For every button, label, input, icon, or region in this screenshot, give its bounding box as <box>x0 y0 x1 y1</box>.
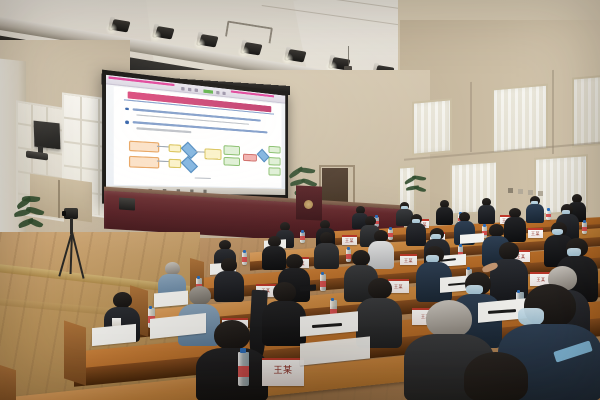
spotlight-fixture <box>239 39 263 58</box>
attendee <box>356 278 402 346</box>
attendee-foreground <box>196 320 268 400</box>
spotlight-fixture <box>151 23 175 42</box>
cabinet-seam <box>58 180 60 218</box>
wall-socket <box>528 190 533 195</box>
confidence-monitor <box>119 197 135 210</box>
spotlight-fixture <box>107 16 131 35</box>
name-card-text: 王某 <box>262 367 304 376</box>
flow-node-green <box>224 145 240 155</box>
acoustic-panel <box>412 98 452 155</box>
attendee <box>526 196 544 223</box>
ceiling-hanger-wire <box>348 46 349 68</box>
lectern-emblem <box>304 200 313 209</box>
conference-hall-photo: 王某 王某 王某 王某 王某 <box>0 0 600 400</box>
handout-paper <box>460 233 484 244</box>
name-card-foreground: 王某 <box>262 358 304 386</box>
desk-end-panel <box>64 320 86 385</box>
flow-node-yellow <box>204 148 221 160</box>
flow-arrow <box>196 152 204 154</box>
slide-subline <box>137 127 191 133</box>
name-card-text: 王某 <box>342 239 357 243</box>
acoustic-panel <box>492 84 548 155</box>
water-bottle <box>238 352 249 386</box>
water-bottle <box>582 222 587 234</box>
potted-plant-left <box>14 196 48 236</box>
wall-socket <box>508 188 513 193</box>
slide-canvas <box>114 86 282 187</box>
name-card: 王某 <box>342 235 357 245</box>
water-bottle <box>320 274 326 291</box>
spotlight-fixture <box>195 31 219 50</box>
flow-node-green <box>269 145 281 154</box>
attendee <box>314 232 339 268</box>
attendee <box>406 214 426 245</box>
flow-node-green <box>269 167 281 175</box>
attendee <box>436 200 453 225</box>
flow-node-decision <box>181 156 198 173</box>
wall-socket <box>518 189 523 194</box>
flow-node-orange <box>129 140 159 153</box>
flow-node-decision <box>181 141 198 158</box>
flow-node-yellow <box>168 159 181 168</box>
flow-node-green <box>224 157 240 167</box>
wall-moulding <box>552 70 554 154</box>
slide-bullet-marker <box>125 121 128 124</box>
name-card-text: 王某 <box>528 232 543 236</box>
slide-bullet-marker <box>125 107 128 110</box>
flow-node-orange <box>129 156 159 168</box>
flow-node-yellow <box>168 144 181 153</box>
slide-figure-caption <box>194 177 211 179</box>
flow-node-green <box>269 157 281 165</box>
projected-slide <box>106 75 285 195</box>
name-card: 王某 <box>400 254 417 265</box>
acoustic-panel <box>572 74 600 147</box>
name-card-text: 王某 <box>400 259 417 263</box>
spotlight-fixture <box>283 46 307 65</box>
attendee-foreground <box>440 352 550 400</box>
potted-plant-right <box>404 176 426 200</box>
wall-moulding <box>470 82 472 152</box>
water-bottle <box>546 210 551 220</box>
projection-screen[interactable] <box>102 70 288 204</box>
camera-lens-icon <box>62 211 66 216</box>
attendee <box>478 198 495 224</box>
name-card: 王某 <box>528 228 543 238</box>
flow-node-red <box>243 154 257 162</box>
water-bottle <box>300 232 305 243</box>
